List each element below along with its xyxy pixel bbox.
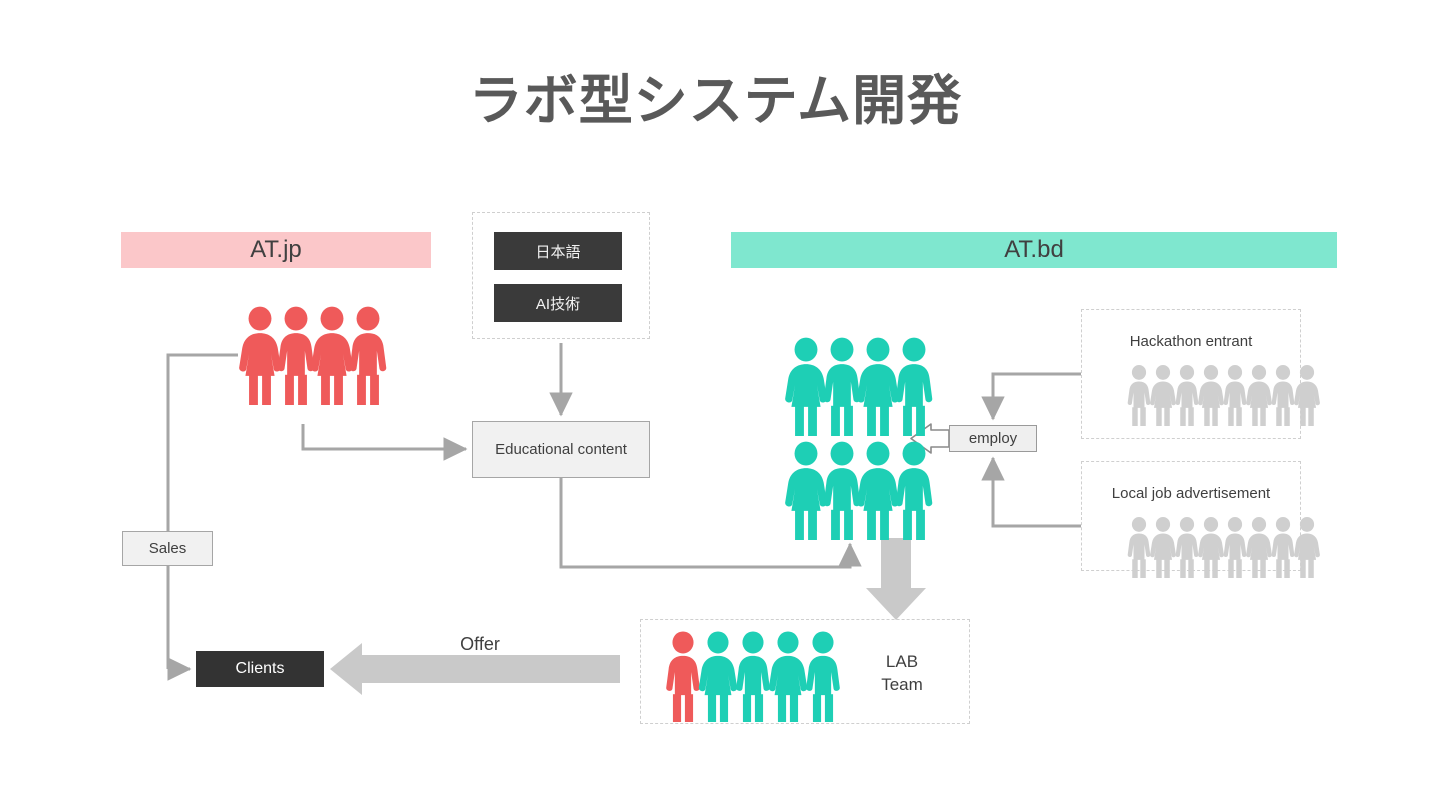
wire-hackathon-to-employ: [993, 374, 1081, 419]
section-header-atjp: AT.jp: [121, 232, 431, 268]
person-male-icon: [892, 440, 936, 540]
node-sales[interactable]: Sales: [122, 531, 213, 566]
section-header-atbd: AT.bd: [731, 232, 1337, 268]
people-group-jp-staff: [238, 305, 390, 405]
person-female-icon: [1292, 516, 1322, 578]
node-clients-label: Clients: [236, 660, 285, 678]
people-group-bd-staff-row1: [784, 336, 936, 436]
edge-label-offer: Offer: [420, 634, 540, 655]
people-group-localjob: [1124, 516, 1322, 578]
node-educational-content-label: Educational content: [495, 441, 627, 458]
section-header-atbd-label: AT.bd: [1004, 236, 1064, 264]
node-employ-label: employ: [969, 430, 1017, 447]
lab-team-label: LAB Team: [862, 651, 942, 697]
people-group-hackathon: [1124, 364, 1322, 426]
lab-team-label-line2: Team: [862, 674, 942, 697]
skill-box-ai-label: AI技術: [536, 293, 580, 314]
page-title: ラボ型システム開発: [0, 72, 1431, 131]
people-group-lab-team: [662, 630, 844, 722]
node-employ[interactable]: employ: [949, 425, 1037, 452]
skill-box-ai[interactable]: AI技術: [494, 284, 622, 322]
source-group-localjob-label: Local job advertisement: [1081, 485, 1301, 502]
person-female-icon: [1292, 364, 1322, 426]
section-header-atjp-label: AT.jp: [250, 236, 302, 264]
thick-down-arrow-to-lab: [866, 538, 926, 620]
slide-canvas: ラボ型システム開発: [0, 0, 1431, 802]
people-group-bd-staff-row2: [784, 440, 936, 540]
wire-jp-staff-to-clients: [168, 355, 238, 669]
wire-jp-staff-to-edu: [303, 424, 466, 449]
skill-box-japanese-label: 日本語: [535, 241, 580, 262]
person-male-icon: [892, 336, 936, 436]
node-educational-content[interactable]: Educational content: [472, 421, 650, 478]
wire-localjob-to-employ: [993, 458, 1081, 526]
lab-team-label-line1: LAB: [862, 651, 942, 674]
person-male-icon: [802, 630, 844, 722]
skill-box-japanese[interactable]: 日本語: [494, 232, 622, 270]
node-clients[interactable]: Clients: [196, 651, 324, 687]
source-group-hackathon-label: Hackathon entrant: [1081, 333, 1301, 350]
person-male-icon: [346, 305, 390, 405]
node-sales-label: Sales: [149, 540, 187, 557]
